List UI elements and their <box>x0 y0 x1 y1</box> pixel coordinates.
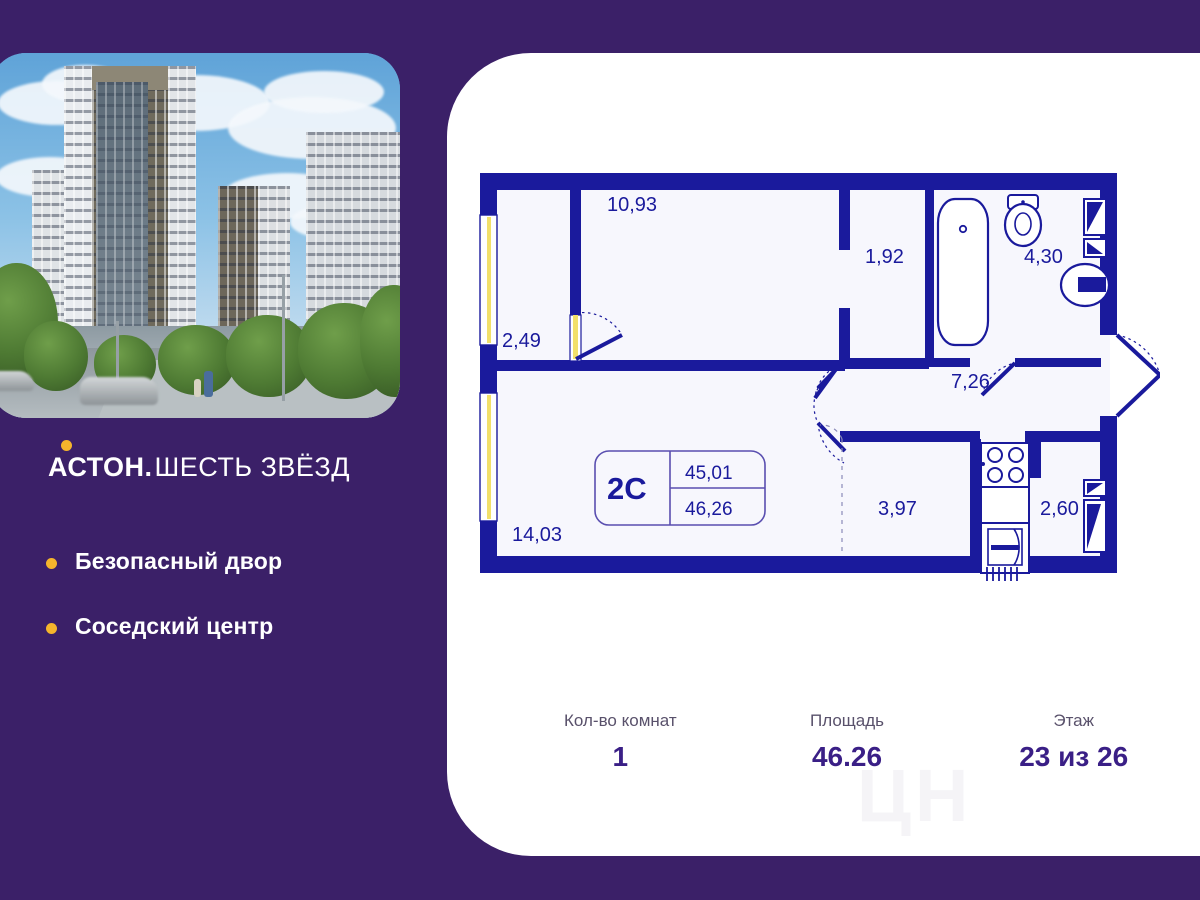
window-left-upper <box>480 215 497 345</box>
left-panel: АСТОН . ШЕСТЬ ЗВЁЗД Безопасный двор Сосе… <box>0 0 440 900</box>
building-glass <box>96 82 148 358</box>
badge-area-living: 45,01 <box>685 463 733 484</box>
area-label-wardrobe: 2,49 <box>502 330 541 352</box>
brand-subtitle: ШЕСТЬ ЗВЁЗД <box>155 452 351 483</box>
brand-logo: АСТОН . ШЕСТЬ ЗВЁЗД <box>48 452 350 483</box>
area-label-kitchen: 3,97 <box>878 498 917 520</box>
badge-type: 2С <box>607 471 647 506</box>
stat-label: Кол-во комнат <box>507 711 734 731</box>
cloud <box>264 71 384 113</box>
badge-area-total: 46,26 <box>685 499 733 520</box>
bathtub-icon <box>938 199 988 345</box>
pedestrian <box>204 371 213 397</box>
floorplan[interactable]: 10,93 2,49 1,92 4,30 7,26 3,97 2,60 14,0… <box>470 163 1160 613</box>
page-root: АСТОН . ШЕСТЬ ЗВЁЗД Безопасный двор Сосе… <box>0 0 1200 900</box>
window-left-lower <box>480 393 497 521</box>
area-label-utility: 2,60 <box>1040 498 1079 520</box>
stove-icon <box>981 443 1029 487</box>
window-bathroom <box>1084 199 1106 257</box>
pedestrian <box>194 379 201 397</box>
feature-label: Безопасный двор <box>75 548 282 575</box>
window-utility <box>1084 480 1106 552</box>
car <box>0 371 34 391</box>
car <box>80 377 158 405</box>
feature-list: Безопасный двор Соседский центр <box>46 548 426 678</box>
washbasin-icon <box>1061 264 1109 306</box>
kitchen-sink-icon <box>981 523 1029 581</box>
area-label-hallway: 7,26 <box>951 371 990 393</box>
area-label-living: 14,03 <box>512 524 562 546</box>
area-label-bathroom: 4,30 <box>1024 246 1063 268</box>
tree <box>24 321 88 391</box>
area-label-bedroom: 10,93 <box>607 194 657 216</box>
stat-value: 46.26 <box>734 741 961 773</box>
bullet-icon <box>46 558 57 569</box>
stat-value: 1 <box>507 741 734 773</box>
area-label-closet: 1,92 <box>865 246 904 268</box>
apartment-badge: 2С 45,01 46,26 <box>595 451 765 525</box>
stat-value: 23 из 26 <box>960 741 1187 773</box>
feature-item: Безопасный двор <box>46 548 426 575</box>
feature-item: Соседский центр <box>46 613 426 640</box>
stat-floor: Этаж 23 из 26 <box>960 711 1187 773</box>
logo-dot-icon <box>61 440 72 451</box>
counter-icon <box>981 487 1029 523</box>
stats-row: Кол-во комнат 1 Площадь 46.26 Этаж 23 из… <box>507 711 1187 773</box>
brand-name: АСТОН <box>48 452 144 483</box>
brand-name-separator: . <box>144 452 152 483</box>
building-photo <box>0 53 400 418</box>
stat-rooms: Кол-во комнат 1 <box>507 711 734 773</box>
stat-label: Этаж <box>960 711 1187 731</box>
stat-area: Площадь 46.26 <box>734 711 961 773</box>
lamp-post <box>282 275 285 401</box>
stat-label: Площадь <box>734 711 961 731</box>
floorplan-svg: 10,93 2,49 1,92 4,30 7,26 3,97 2,60 14,0… <box>470 163 1160 613</box>
toilet-icon <box>1005 195 1041 246</box>
floorplan-card: ЦН <box>447 53 1200 856</box>
door-entrance <box>1117 335 1160 416</box>
feature-label: Соседский центр <box>75 613 273 640</box>
bullet-icon <box>46 623 57 634</box>
